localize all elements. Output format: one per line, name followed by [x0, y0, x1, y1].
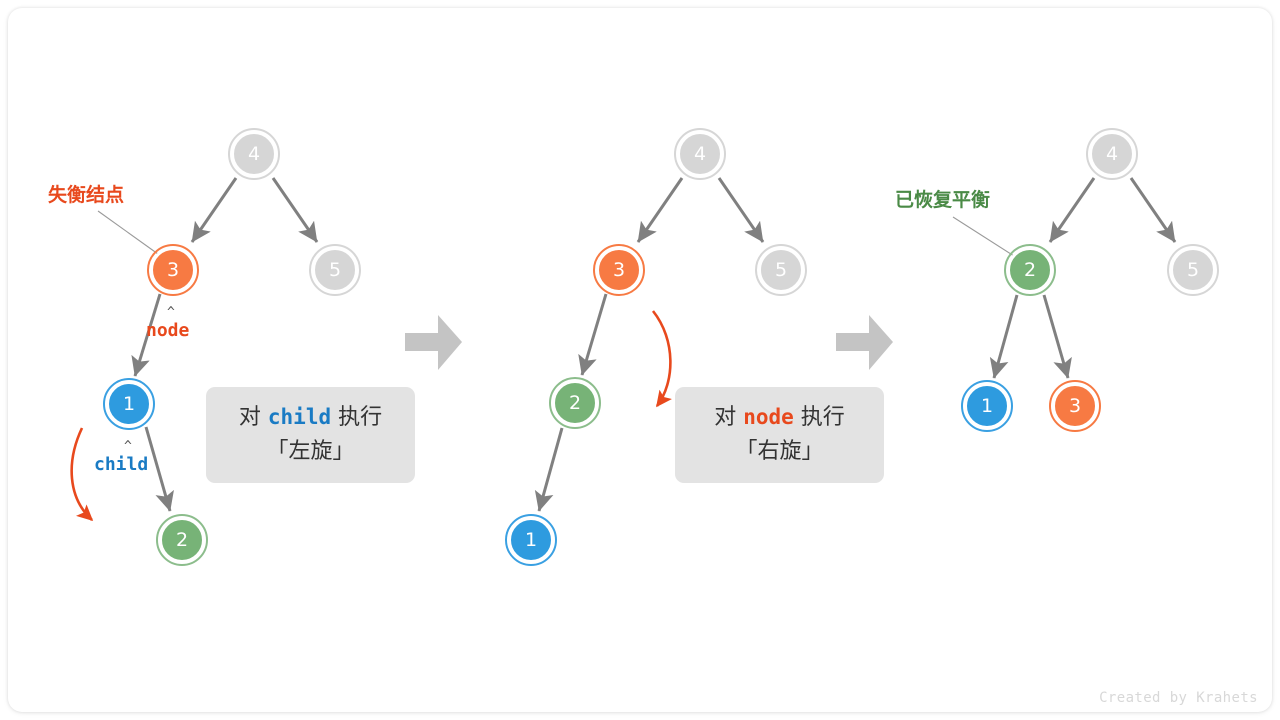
node-ring	[309, 244, 361, 296]
node-ring	[961, 380, 1013, 432]
panel-after-node-1[interactable]: 1	[964, 383, 1010, 429]
op-box-suffix: 执行	[338, 401, 382, 435]
panel-middle-node-5[interactable]: 5	[758, 247, 804, 293]
pointer-label-child: child	[94, 454, 148, 475]
op-box-line-2: 「左旋」	[266, 435, 354, 469]
node-ring	[156, 514, 208, 566]
op-box-line-1: 对 child 执行	[239, 401, 382, 435]
annotation-balanced: 已恢复平衡	[895, 185, 990, 212]
op-box-left-rotate: 对 child 执行 「左旋」	[206, 387, 415, 483]
op-box-suffix: 执行	[801, 401, 845, 435]
panel-before-node-4[interactable]: 4	[231, 131, 277, 177]
node-ring	[1049, 380, 1101, 432]
panel-middle-node-4[interactable]: 4	[677, 131, 723, 177]
node-ring	[1167, 244, 1219, 296]
node-ring	[505, 514, 557, 566]
panel-after-node-5[interactable]: 5	[1170, 247, 1216, 293]
caret-up-icon-child: ^	[124, 439, 132, 454]
panel-before-node-2[interactable]: 2	[159, 517, 205, 563]
node-ring	[755, 244, 807, 296]
op-box-line-1: 对 node 执行	[714, 401, 845, 435]
node-ring	[1004, 244, 1056, 296]
credit-footer: Created by Krahets	[1099, 690, 1258, 706]
panel-middle-node-3[interactable]: 3	[596, 247, 642, 293]
node-ring	[1086, 128, 1138, 180]
node-ring	[147, 244, 199, 296]
panel-before-node-5[interactable]: 5	[312, 247, 358, 293]
node-ring	[674, 128, 726, 180]
figure-card	[8, 8, 1272, 712]
panel-before-node-3[interactable]: 3	[150, 247, 196, 293]
panel-middle-node-2[interactable]: 2	[552, 380, 598, 426]
node-ring	[103, 378, 155, 430]
node-ring	[593, 244, 645, 296]
panel-after-node-4[interactable]: 4	[1089, 131, 1135, 177]
pointer-label-node: node	[146, 320, 189, 341]
node-ring	[228, 128, 280, 180]
annotation-unbalanced-node: 失衡结点	[48, 180, 124, 207]
panel-after-node-2[interactable]: 2	[1007, 247, 1053, 293]
diagram-canvas: 失衡结点 4 3 5 1 2 ^ node ^ child 对 child	[0, 0, 1280, 720]
node-ring	[549, 377, 601, 429]
op-box-prefix: 对	[714, 401, 736, 435]
panel-before-node-1[interactable]: 1	[106, 381, 152, 427]
caret-up-icon-node: ^	[167, 305, 175, 320]
op-box-line-2: 「右旋」	[735, 435, 823, 469]
op-box-variable: node	[736, 401, 801, 434]
panel-middle-node-1[interactable]: 1	[508, 517, 554, 563]
panel-after-node-3[interactable]: 3	[1052, 383, 1098, 429]
op-box-prefix: 对	[239, 401, 261, 435]
op-box-variable: child	[261, 401, 338, 434]
op-box-right-rotate: 对 node 执行 「右旋」	[675, 387, 884, 483]
